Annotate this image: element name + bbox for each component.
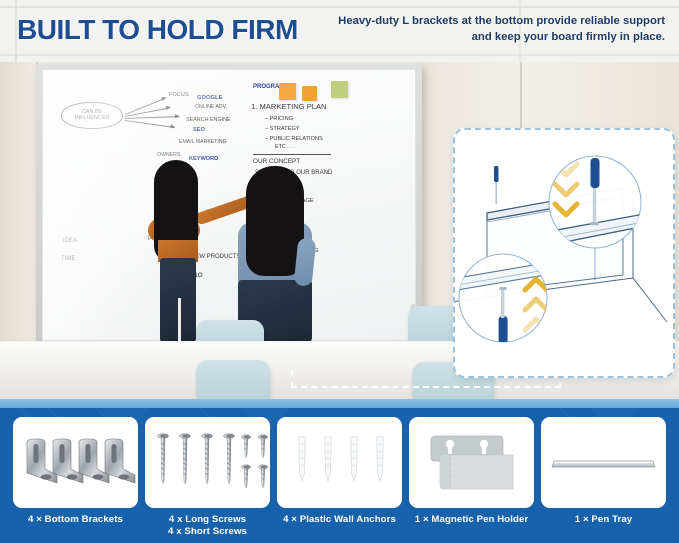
sticky-note-orange-2: [302, 86, 317, 101]
part-card-screws: [145, 417, 270, 508]
product-lifestyle-photo: CAN BE INFLUENCED FOCUS GOOGLE ONLINE AD…: [0, 62, 679, 399]
included-parts-banner: 4 × Bottom Brackets: [0, 399, 679, 543]
screw-icon: [145, 417, 270, 508]
agenda-line-4: – PUBLIC RELATIONS: [265, 136, 323, 142]
agenda-line-3: – STRATEGY: [265, 126, 299, 132]
agenda-line-5: ETC . . .: [275, 144, 295, 150]
pen-holder-icon: [409, 417, 534, 508]
part-item-wall-anchors[interactable]: 4 × Plastic Wall Anchors: [277, 417, 402, 543]
part-card-pen-tray: [541, 417, 666, 508]
part-item-screws[interactable]: 4 x Long Screws 4 x Short Screws: [145, 417, 270, 543]
diagram-svg: [455, 130, 675, 378]
part-label-bottom-brackets: 4 × Bottom Brackets: [28, 514, 123, 526]
part-item-pen-holder[interactable]: 1 × Magnetic Pen Holder: [409, 417, 534, 543]
wall-anchor-icon: [277, 417, 402, 508]
header-banner: BUILT TO HOLD FIRM Heavy-duty L brackets…: [0, 0, 679, 62]
part-card-pen-holder: [409, 417, 534, 508]
banner-top-stripe: [0, 399, 679, 408]
agenda-line-2: – PRICING: [265, 116, 293, 122]
part-card-bottom-brackets: [13, 417, 138, 508]
wall-mount-installation-diagram: [453, 128, 675, 378]
part-label-wall-anchors: 4 × Plastic Wall Anchors: [283, 514, 396, 526]
header-subtitle: Heavy-duty L brackets at the bottom prov…: [330, 13, 665, 45]
part-card-wall-anchors: [277, 417, 402, 508]
pen-tray-icon: [541, 417, 666, 508]
part-label-pen-holder: 1 × Magnetic Pen Holder: [415, 514, 528, 526]
l-bracket-icon: [13, 417, 138, 508]
part-item-bottom-brackets[interactable]: 4 × Bottom Brackets: [13, 417, 138, 543]
sticky-note-orange-1: [279, 83, 296, 100]
chair-front-left: [196, 360, 270, 399]
part-item-pen-tray[interactable]: 1 × Pen Tray: [541, 417, 666, 543]
page-title: BUILT TO HOLD FIRM: [17, 14, 298, 46]
parts-card-row: 4 × Bottom Brackets: [0, 417, 679, 543]
agenda-line-1: 1. MARKETING PLAN: [251, 102, 327, 111]
sticky-note-green: [331, 81, 348, 98]
agenda-line-6: OUR CONCEPT: [253, 158, 300, 165]
part-label-pen-tray: 1 × Pen Tray: [575, 514, 632, 526]
agenda-divider: [253, 154, 331, 155]
diagram-screwdriver-left: [494, 166, 499, 204]
part-label-screws: 4 x Long Screws 4 x Short Screws: [168, 514, 247, 538]
